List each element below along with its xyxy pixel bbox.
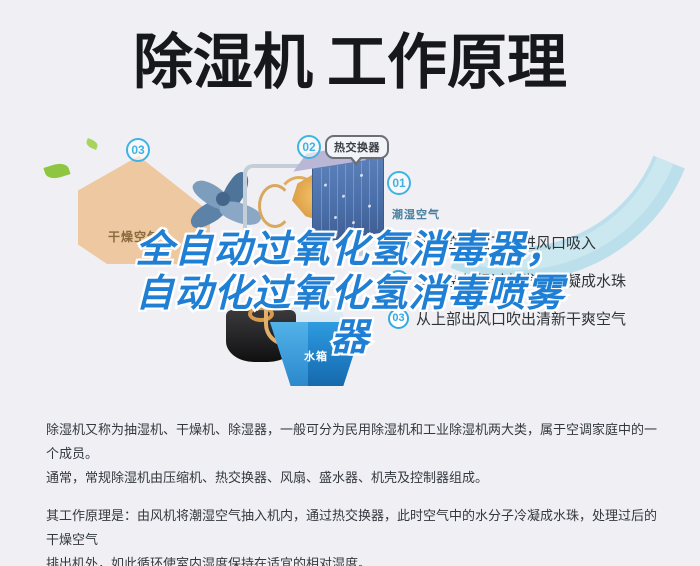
step-number-03: 03 bbox=[388, 308, 409, 329]
water-tank-icon: 水箱 bbox=[270, 322, 364, 386]
page-title-part1: 除湿机 bbox=[133, 28, 313, 98]
step-item-03: 03 从上部出风口吹出清新干爽空气 bbox=[388, 299, 688, 337]
leaf-icon bbox=[85, 138, 99, 150]
page-title: 除湿机工作原理 bbox=[0, 28, 700, 98]
diagram-badge-01: 01 bbox=[387, 171, 411, 195]
step-item-02: 02 潮湿空气经过蒸发器冷凝成水珠 bbox=[388, 261, 688, 299]
heat-exchanger-fins bbox=[315, 159, 381, 239]
page-title-part2: 工作原理 bbox=[327, 28, 567, 98]
leaf-icon bbox=[43, 161, 70, 182]
step-number-02: 02 bbox=[388, 270, 409, 291]
heat-exchanger-callout: 热交换器 bbox=[325, 135, 389, 159]
article-body: 除湿机又称为抽湿机、干燥机、除湿器，一般可分为民用除湿机和工业除湿机两大类，属于… bbox=[46, 418, 666, 566]
paragraph-1-line-1: 除湿机又称为抽湿机、干燥机、除湿器，一般可分为民用除湿机和工业除湿机两大类，属于… bbox=[46, 418, 666, 466]
heat-exchanger-icon bbox=[312, 154, 384, 243]
moist-air-label: 潮湿空气 bbox=[392, 206, 440, 222]
step-text-02: 潮湿空气经过蒸发器冷凝成水珠 bbox=[416, 270, 626, 291]
water-tank-label: 水箱 bbox=[304, 348, 328, 364]
diagram-badge-02: 02 bbox=[297, 135, 321, 159]
water-tank-group: 水箱 bbox=[226, 296, 396, 402]
dehumidifier-diagram: 干燥空气 bbox=[0, 118, 700, 413]
step-text-03: 从上部出风口吹出清新干爽空气 bbox=[416, 308, 626, 329]
steps-list: 01 潮湿空气由下部进风口吸入 02 潮湿空气经过蒸发器冷凝成水珠 03 从上部… bbox=[388, 223, 688, 337]
step-text-01: 潮湿空气由下部进风口吸入 bbox=[416, 232, 596, 253]
paragraph-2-line-1: 其工作原理是：由风机将潮湿空气抽入机内，通过热交换器，此时空气中的水分子冷凝成水… bbox=[46, 504, 666, 552]
paragraph-spacer bbox=[46, 490, 666, 504]
paragraph-2-line-2: 排出机外，如此循环使室内湿度保持在适宜的相对湿度。 bbox=[46, 552, 666, 566]
dry-air-label: 干燥空气 bbox=[108, 228, 160, 245]
step-item-01: 01 潮湿空气由下部进风口吸入 bbox=[388, 223, 688, 261]
step-number-01: 01 bbox=[388, 232, 409, 253]
diagram-badge-03: 03 bbox=[126, 138, 150, 162]
fan-hub bbox=[216, 192, 230, 206]
page-root: 除湿机工作原理 干燥空气 bbox=[0, 0, 700, 566]
paragraph-1-line-2: 通常，常规除湿机由压缩机、热交换器、风扇、盛水器、机壳及控制器组成。 bbox=[46, 466, 666, 490]
